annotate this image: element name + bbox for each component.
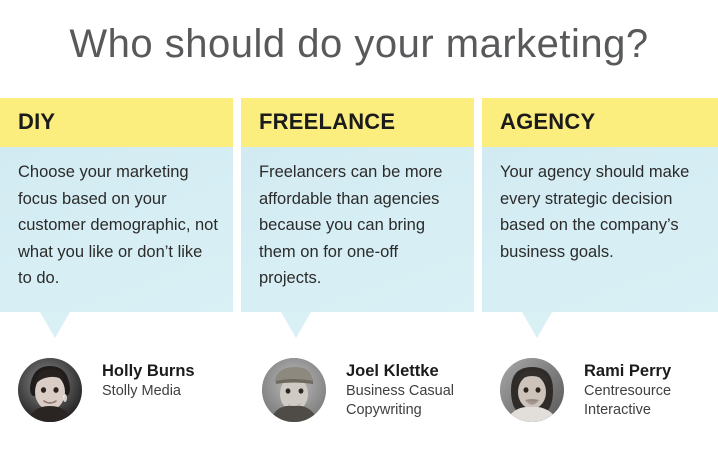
speech-bubble-tail-icon	[522, 312, 552, 338]
speech-bubble-tail-icon	[281, 312, 311, 338]
column-card-freelance: FREELANCE Freelancers can be more afford…	[241, 98, 474, 340]
attribution-name: Holly Burns	[102, 361, 252, 382]
card-body-text: Freelancers can be more affordable than …	[259, 159, 460, 292]
column-card-agency: AGENCY Your agency should make every str…	[482, 98, 718, 340]
card-body-freelance: Freelancers can be more affordable than …	[241, 147, 474, 312]
card-header-freelance: FREELANCE	[241, 98, 474, 147]
speech-bubble-tail-icon	[40, 312, 70, 338]
card-body-text: Your agency should make every strategic …	[500, 159, 704, 265]
avatar	[500, 358, 564, 422]
card-body-text: Choose your marketing focus based on you…	[18, 159, 219, 292]
attribution-role: Stolly Media	[102, 382, 252, 401]
avatar	[262, 358, 326, 422]
card-header-diy: DIY	[0, 98, 233, 147]
column-card-diy: DIY Choose your marketing focus based on…	[0, 98, 233, 340]
attribution-name: Joel Klettke	[346, 361, 496, 382]
card-header-agency: AGENCY	[482, 98, 718, 147]
attribution-list: Holly Burns Stolly Media	[0, 355, 718, 463]
page-title: Who should do your marketing?	[0, 14, 718, 74]
attribution-role: Centresource Interactive	[584, 382, 718, 420]
card-header-label: AGENCY	[500, 109, 595, 135]
attribution-name: Rami Perry	[584, 361, 718, 382]
attribution-role: Business Casual Copywriting	[346, 382, 496, 420]
comparison-columns: DIY Choose your marketing focus based on…	[0, 98, 718, 340]
attribution-text: Rami Perry Centresource Interactive	[584, 361, 718, 420]
attribution-text: Joel Klettke Business Casual Copywriting	[346, 361, 496, 420]
card-body-agency: Your agency should make every strategic …	[482, 147, 718, 312]
avatar	[18, 358, 82, 422]
card-header-label: FREELANCE	[259, 109, 395, 135]
attribution-text: Holly Burns Stolly Media	[102, 361, 252, 401]
card-body-diy: Choose your marketing focus based on you…	[0, 147, 233, 312]
card-header-label: DIY	[18, 109, 55, 135]
